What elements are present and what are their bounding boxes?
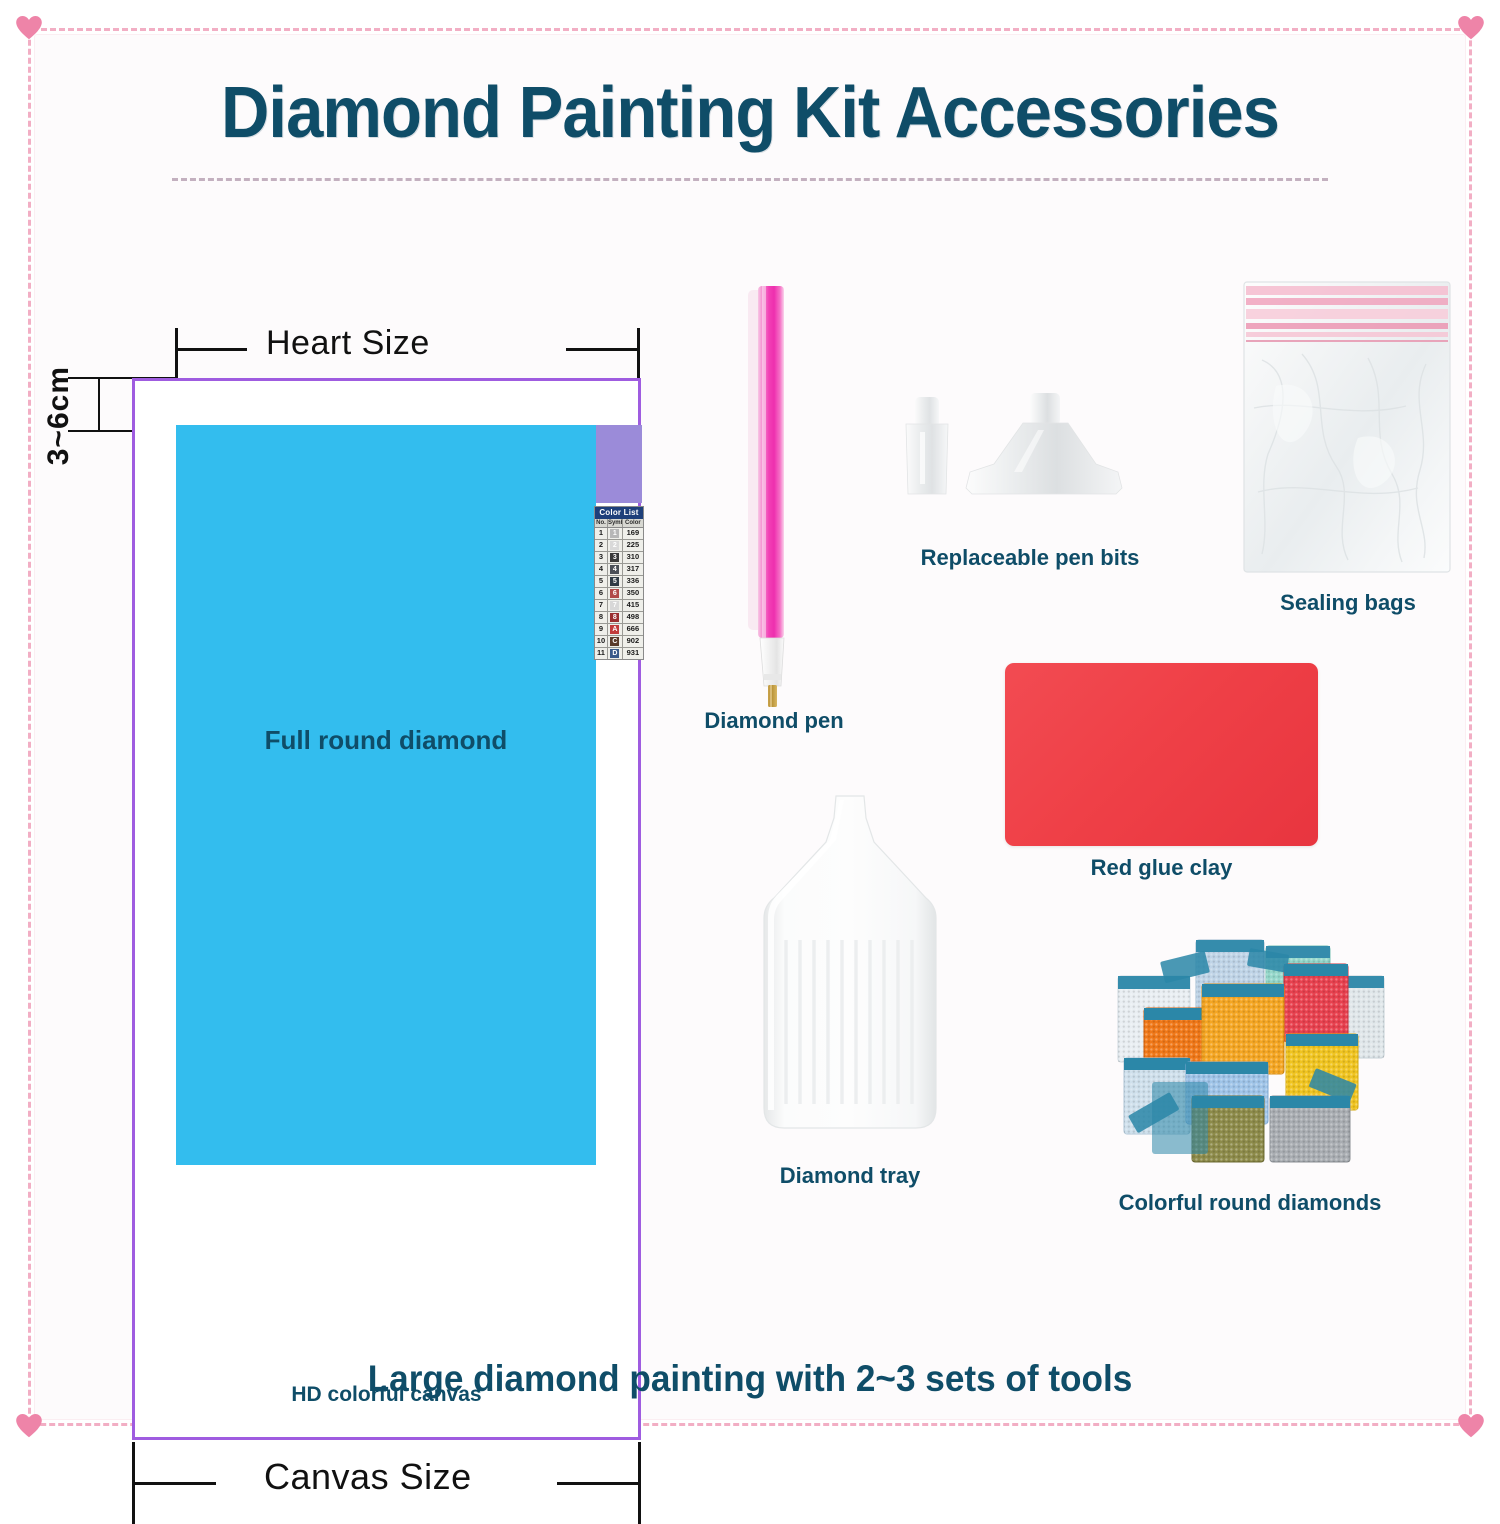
- canvas-size-right-arrow: [557, 1482, 641, 1485]
- color-list-cell-symbol: 5: [608, 576, 623, 587]
- diamond-beads-icon: [1100, 918, 1400, 1180]
- color-list-cell-symbol: 1: [608, 528, 623, 539]
- pen-bits-icon: [890, 390, 1170, 530]
- color-list-cell-symbol: 3: [608, 552, 623, 563]
- heart-size-left-arrow: [175, 348, 247, 351]
- color-list-cell-color: 225: [623, 540, 643, 551]
- color-list-cell-no: 4: [595, 564, 608, 575]
- color-list-row: 77415: [595, 600, 643, 612]
- color-list-col-no: No.: [595, 519, 608, 527]
- pen-bits-label: Replaceable pen bits: [890, 545, 1170, 571]
- heart-size-label: Heart Size: [266, 324, 430, 363]
- title-divider: [172, 178, 1328, 181]
- diamond-tray-icon: [740, 790, 960, 1160]
- diamond-beads-label: Colorful round diamonds: [1060, 1190, 1440, 1216]
- heart-icon: [1458, 1414, 1484, 1438]
- full-round-diamond-label: Full round diamond: [176, 425, 596, 756]
- color-list-cell-symbol: 8: [608, 612, 623, 623]
- color-list-cell-no: 1: [595, 528, 608, 539]
- full-round-diamond-area: Full round diamond: [176, 425, 596, 1165]
- color-list-cell-no: 9: [595, 624, 608, 635]
- color-list-cell-no: 2: [595, 540, 608, 551]
- color-list-title: Color List: [595, 507, 643, 519]
- color-list-cell-color: 931: [623, 648, 643, 659]
- heart-size-right-arrow: [566, 348, 640, 351]
- color-list-cell-color: 317: [623, 564, 643, 575]
- color-list-header-row: No. Symbol Color: [595, 519, 643, 528]
- color-list-cell-symbol: D: [608, 648, 623, 659]
- color-list-cell-symbol: A: [608, 624, 623, 635]
- color-list-cell-symbol: C: [608, 636, 623, 647]
- color-list-cell-color: 336: [623, 576, 643, 587]
- color-list-cell-no: 10: [595, 636, 608, 647]
- glue-clay-icon: [1005, 663, 1318, 846]
- sealing-bag-icon: [1240, 278, 1456, 578]
- heart-icon: [1458, 16, 1484, 40]
- color-list-cell-symbol: 4: [608, 564, 623, 575]
- color-list-cell-symbol: 7: [608, 600, 623, 611]
- color-list-cell-no: 8: [595, 612, 608, 623]
- color-list-cell-symbol: 2: [608, 540, 623, 551]
- color-list-cell-color: 310: [623, 552, 643, 563]
- glue-clay-label: Red glue clay: [1005, 855, 1318, 881]
- diamond-tray-label: Diamond tray: [740, 1163, 960, 1189]
- color-list-row: 66350: [595, 588, 643, 600]
- color-list-cell-no: 7: [595, 600, 608, 611]
- color-list-col-symbol: Symbol: [608, 519, 623, 527]
- color-list-cell-no: 5: [595, 576, 608, 587]
- color-list-cell-no: 3: [595, 552, 608, 563]
- color-list-row: 22225: [595, 540, 643, 552]
- color-list-row: 88498: [595, 612, 643, 624]
- color-list-body: 1116922225333104431755336663507741588498…: [595, 528, 643, 659]
- color-list-cell-color: 666: [623, 624, 643, 635]
- color-list-cell-no: 6: [595, 588, 608, 599]
- heart-icon: [16, 16, 42, 40]
- canvas-size-left-arrow: [132, 1482, 216, 1485]
- lavender-swatch-block: [596, 425, 642, 503]
- margin-size-label: 3~6cm: [42, 366, 76, 465]
- color-list-cell-no: 11: [595, 648, 608, 659]
- color-list-col-color: Color: [623, 519, 643, 527]
- canvas-size-diagram: Heart Size 3~6cm Full round diamond Colo…: [36, 320, 676, 1220]
- color-list-cell-color: 498: [623, 612, 643, 623]
- heart-icon: [16, 1414, 42, 1438]
- color-list-cell-color: 169: [623, 528, 643, 539]
- color-list-cell-color: 902: [623, 636, 643, 647]
- color-list-row: 11169: [595, 528, 643, 540]
- color-list-row: 55336: [595, 576, 643, 588]
- color-list-cell-symbol: 6: [608, 588, 623, 599]
- color-list-row: 9A666: [595, 624, 643, 636]
- color-list-cell-color: 415: [623, 600, 643, 611]
- diamond-pen-icon: [742, 282, 804, 712]
- sealing-bags-label: Sealing bags: [1230, 590, 1466, 616]
- color-list-row: 44317: [595, 564, 643, 576]
- color-list-table: Color List No. Symbol Color 111692222533…: [594, 506, 644, 660]
- color-list-row: 33310: [595, 552, 643, 564]
- diamond-pen-label: Diamond pen: [640, 708, 908, 734]
- color-list-cell-color: 350: [623, 588, 643, 599]
- page-title: Diamond Painting Kit Accessories: [53, 72, 1448, 154]
- canvas-size-label: Canvas Size: [264, 1456, 472, 1498]
- footer-tagline: Large diamond painting with 2~3 sets of …: [38, 1358, 1463, 1400]
- color-list-row: 10C902: [595, 636, 643, 648]
- margin-vertical-line: [98, 377, 100, 432]
- color-list-row: 11D931: [595, 648, 643, 659]
- infographic-page: Diamond Painting Kit Accessories Heart S…: [0, 0, 1500, 1454]
